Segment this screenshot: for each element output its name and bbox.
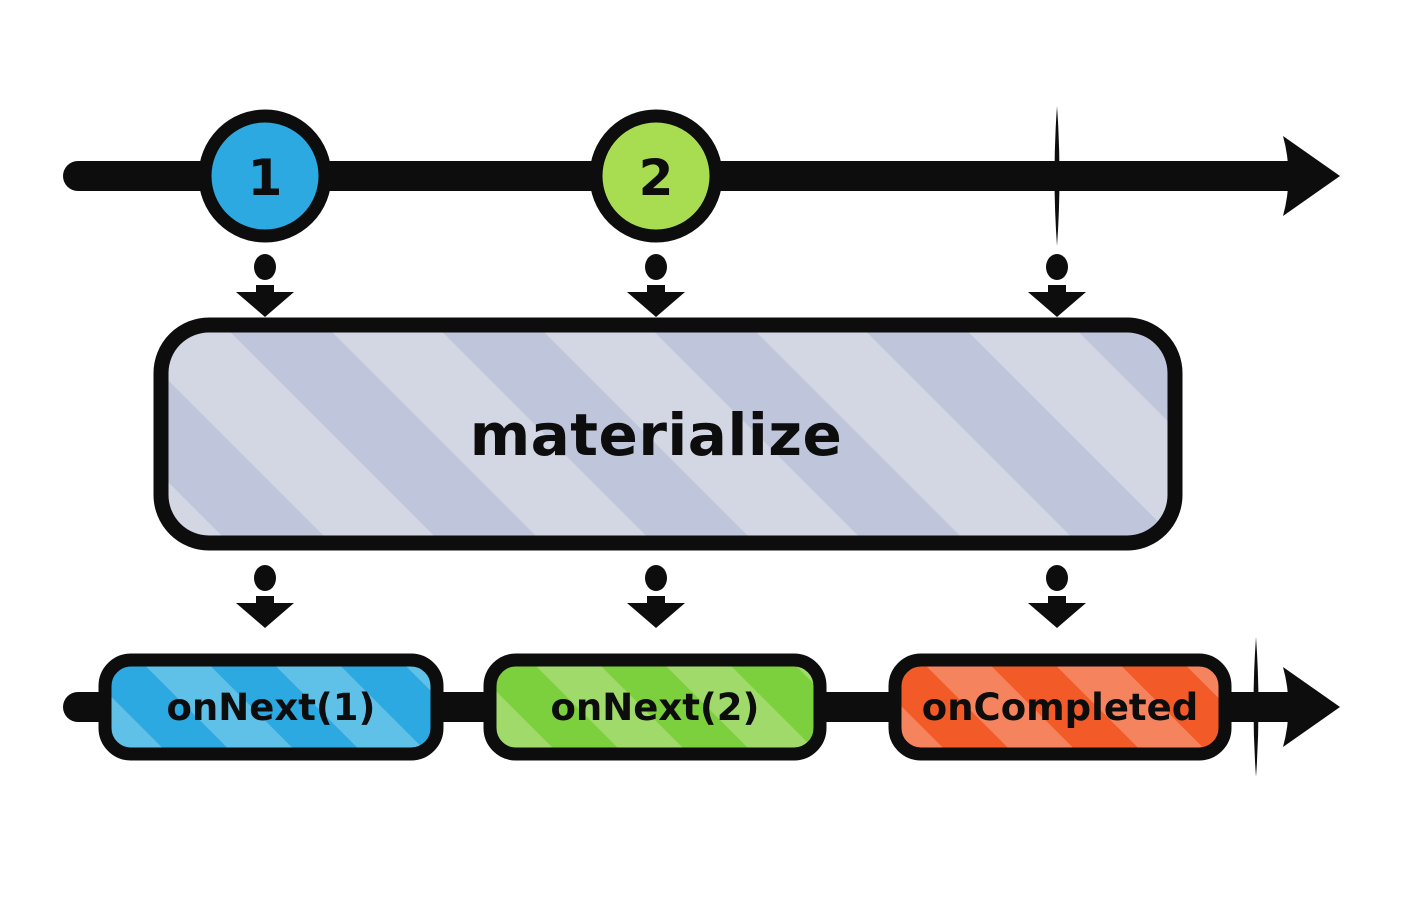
result-timeline-arrowhead xyxy=(1283,667,1340,747)
source-marble-2[interactable]: 2 xyxy=(596,116,716,236)
projection-arrow-down-icon xyxy=(236,565,294,628)
source-observable-timeline: 1 2 xyxy=(78,106,1340,246)
projection-arrow-down-icon xyxy=(627,565,685,628)
projection-arrow-down-icon xyxy=(627,254,685,317)
result-completion-marker xyxy=(1254,637,1259,777)
materialize-marble-diagram: 1 2 xyxy=(0,0,1401,901)
result-notification-oncompleted[interactable]: onCompleted xyxy=(895,660,1225,754)
result-notification-onnext-1[interactable]: onNext(1) xyxy=(105,660,437,754)
notification-label: onNext(1) xyxy=(167,686,376,729)
projection-arrows-top xyxy=(236,254,1086,317)
marble-value-label: 1 xyxy=(248,149,283,207)
projection-arrows-bottom xyxy=(236,565,1086,628)
source-marble-1[interactable]: 1 xyxy=(205,116,325,236)
result-notification-onnext-2[interactable]: onNext(2) xyxy=(490,660,820,754)
projection-arrow-down-icon xyxy=(1028,565,1086,628)
marble-diagram-canvas: 1 2 xyxy=(0,0,1401,901)
operator-box-materialize[interactable]: materialize xyxy=(161,325,1175,543)
notification-label: onCompleted xyxy=(922,686,1198,729)
projection-arrow-down-icon xyxy=(236,254,294,317)
projection-arrow-down-icon xyxy=(1028,254,1086,317)
source-timeline-arrowhead xyxy=(1283,136,1340,216)
marble-value-label: 2 xyxy=(639,149,674,207)
result-observable-timeline: onNext(1) onNext(2) onCompleted xyxy=(78,637,1340,777)
source-completion-marker xyxy=(1055,106,1060,246)
notification-label: onNext(2) xyxy=(551,686,760,729)
operator-name-label: materialize xyxy=(470,401,843,469)
